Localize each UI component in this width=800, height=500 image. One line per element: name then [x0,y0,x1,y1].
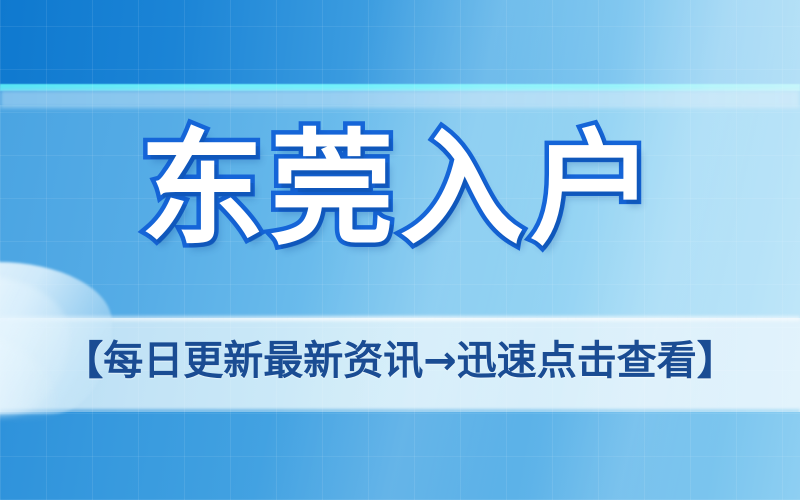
banner-content: 东莞入户 【每日更新最新资讯→迅速点击查看】 [0,0,800,500]
promo-banner: 东莞入户 【每日更新最新资讯→迅速点击查看】 [0,0,800,500]
banner-title: 东莞入户 [140,125,660,256]
banner-subtitle: 【每日更新最新资讯→迅速点击查看】 [63,336,737,387]
banner-title-container: 东莞入户 [0,125,800,256]
banner-subtitle-container: 【每日更新最新资讯→迅速点击查看】 [0,336,800,387]
